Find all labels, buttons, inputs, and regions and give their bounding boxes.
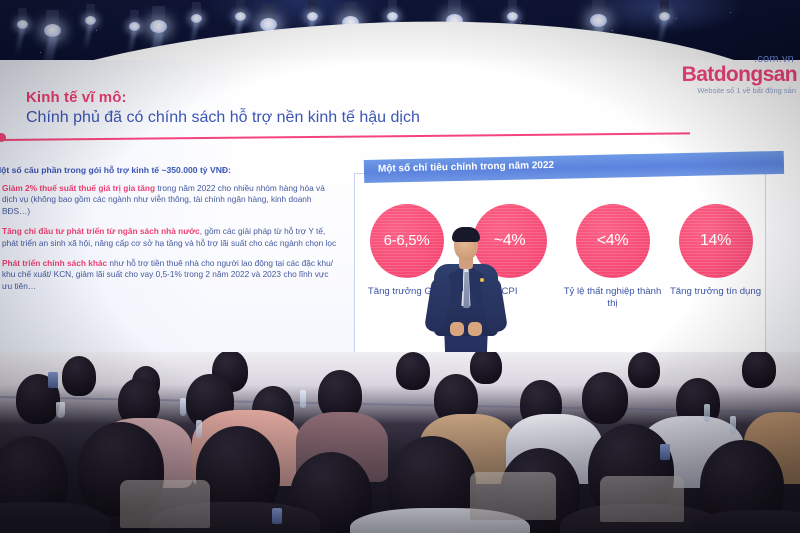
chair-back	[120, 480, 210, 528]
kpi-credit-growth: 14% Tăng trưởng tín dụng	[664, 204, 767, 310]
title-divider	[0, 132, 690, 141]
batdongsan-logo: .com.vn Batdongsan Website số 1 về bất đ…	[672, 54, 798, 108]
presentation-photo: Kinh tế vĩ mô: Chính phủ đã có chính sác…	[0, 0, 800, 533]
audience-head	[470, 352, 502, 384]
audience-head	[628, 352, 660, 388]
water-bottle	[196, 420, 202, 438]
water-glass	[56, 402, 65, 418]
kpi-circle: 14%	[679, 204, 753, 278]
water-bottle	[180, 398, 186, 416]
kpi-label: Tỷ lệ thất nghiệp thành thị	[561, 286, 664, 310]
bullet-highlight: Phát triển chính sách khác	[2, 258, 107, 268]
chair-back	[600, 476, 684, 522]
speaker-hand	[468, 322, 482, 336]
smartphone	[48, 372, 58, 388]
water-bottle	[730, 416, 736, 434]
audience-head	[742, 352, 776, 388]
bullet-item: Tăng chi đầu tư phát triển từ ngân sách …	[0, 226, 338, 249]
bullet-highlight: Tăng chi đầu tư phát triển từ ngân sách …	[2, 226, 200, 236]
audience-head	[582, 372, 628, 424]
kpi-circle: <4%	[576, 204, 650, 278]
bullet-list: Một số cấu phần trong gói hỗ trợ kinh tế…	[0, 164, 338, 301]
water-bottle	[300, 390, 306, 408]
smartphone	[660, 444, 670, 460]
logo-brand: Batdongsan	[672, 64, 797, 85]
smartphone	[272, 508, 282, 524]
speaker-hand	[450, 322, 464, 336]
audience-head	[396, 352, 430, 390]
water-bottle	[704, 404, 710, 422]
kpi-value: 14%	[700, 233, 731, 249]
kpi-unemployment: <4% Tỷ lệ thất nghiệp thành thị	[561, 204, 664, 310]
slide-kicker: Kinh tế vĩ mô:	[26, 89, 127, 106]
bullet-highlight: Giảm 2% thuế suất thuế giá trị gia tăng	[2, 183, 155, 193]
kpi-label: Tăng trưởng tín dụng	[664, 286, 767, 298]
kpi-value: <4%	[597, 233, 629, 249]
bullet-item: Phát triển chính sách khác như hỗ trợ ti…	[0, 258, 338, 292]
projection-slide: Kinh tế vĩ mô: Chính phủ đã có chính sác…	[0, 60, 800, 360]
kpi-row: 6-6,5% Tăng trưởng GDP ~4% CPI <4% Tỷ lệ…	[355, 204, 767, 310]
bullet-item: Giảm 2% thuế suất thuế giá trị gia tăng …	[0, 183, 338, 217]
slide-subtitle: Chính phủ đã có chính sách hỗ trợ nền ki…	[26, 109, 420, 127]
chair-back	[470, 472, 556, 520]
speaker-lapel-pin	[480, 278, 484, 282]
logo-tagline: Website số 1 về bất động sản	[672, 86, 796, 96]
bullet-lead: Một số cấu phần trong gói hỗ trợ kinh tế…	[0, 164, 338, 176]
kpi-panel: 6-6,5% Tăng trưởng GDP ~4% CPI <4% Tỷ lệ…	[354, 173, 766, 359]
audience-head	[62, 356, 96, 396]
kpi-panel-title: Một số chỉ tiêu chính trong năm 2022	[378, 160, 554, 175]
audience	[0, 352, 800, 533]
speaker-hair	[452, 227, 480, 242]
